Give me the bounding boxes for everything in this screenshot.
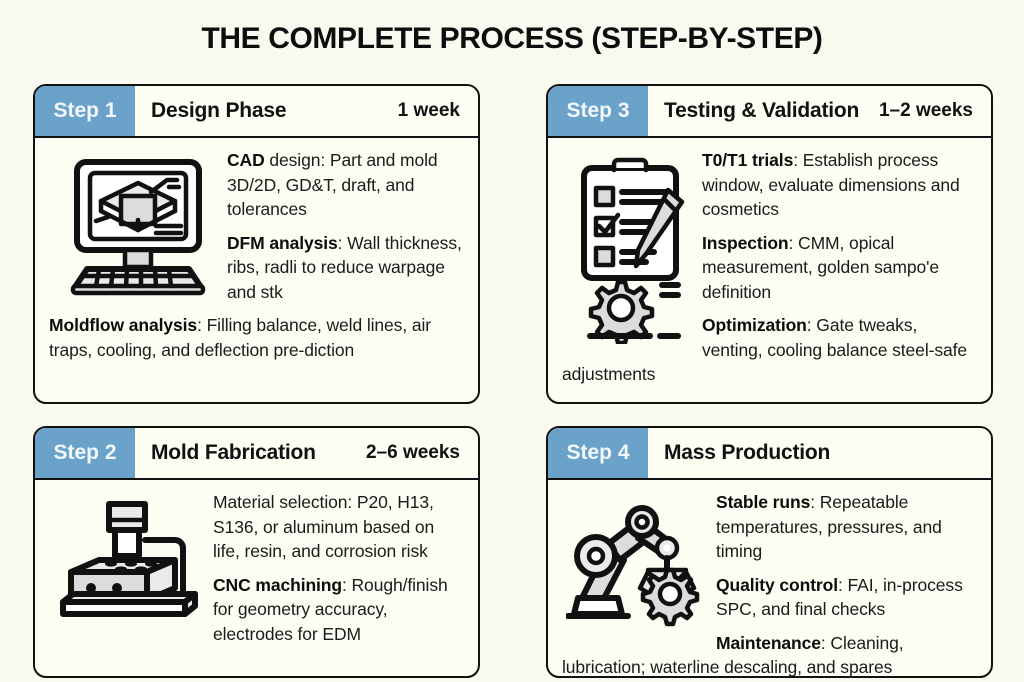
paragraph-lead: Quality control [716, 575, 838, 595]
paragraph-lead: CNC machining [213, 575, 342, 595]
paragraph-lead: Moldflow analysis [49, 315, 197, 335]
card-paragraph: Maintenance: Cleaning, lubrication; wate… [562, 631, 977, 679]
clipboard-checklist-gear-icon [574, 154, 690, 344]
card-duration: 1 week [398, 86, 478, 136]
card-body: Material selection: P20, H13, S136, or a… [35, 480, 478, 676]
step-card-testing-validation: Step 3 Testing & Validation 1–2 weeks [546, 84, 993, 404]
card-body: T0/T1 trials: Establish process window, … [548, 138, 991, 402]
step-card-mass-production: Step 4 Mass Production [546, 426, 993, 678]
card-header: Step 3 Testing & Validation 1–2 weeks [548, 86, 991, 138]
step-card-mold-fabrication: Step 2 Mold Fabrication 2–6 weeks [33, 426, 480, 678]
card-header: Step 2 Mold Fabrication 2–6 weeks [35, 428, 478, 480]
card-header: Step 4 Mass Production [548, 428, 991, 480]
card-heading: Mold Fabrication [135, 428, 366, 478]
paragraph-rest: Material selection: P20, H13, S136, or a… [213, 492, 434, 561]
card-duration [973, 428, 991, 478]
step-card-design-phase: Step 1 Design Phase 1 week [33, 84, 480, 404]
card-heading: Testing & Validation [648, 86, 879, 136]
desktop-cad-monitor-icon [63, 156, 213, 296]
paragraph-lead: Optimization [702, 315, 807, 335]
card-duration: 2–6 weeks [366, 428, 478, 478]
card-paragraph: Moldflow analysis: Filling balance, weld… [49, 313, 464, 362]
card-header: Step 1 Design Phase 1 week [35, 86, 478, 138]
page-title: THE COMPLETE PROCESS (STEP-BY-STEP) [0, 22, 1024, 56]
card-duration: 1–2 weeks [879, 86, 991, 136]
paragraph-lead: DFM analysis [227, 233, 338, 253]
robot-arm-gear-icon [566, 500, 706, 628]
step-badge: Step 4 [548, 428, 648, 478]
paragraph-lead: Inspection [702, 233, 789, 253]
paragraph-lead: Stable runs [716, 492, 810, 512]
card-heading: Mass Production [648, 428, 973, 478]
paragraph-lead: CAD [227, 150, 265, 170]
cnc-milling-machine-icon [53, 498, 203, 628]
step-badge: Step 3 [548, 86, 648, 136]
card-body: CAD design: Part and mold 3D/2D, GD&T, d… [35, 138, 478, 402]
infographic-page: THE COMPLETE PROCESS (STEP-BY-STEP) Step… [0, 0, 1024, 682]
card-body: Stable runs: Repeatable temperatures, pr… [548, 480, 991, 678]
step-badge: Step 2 [35, 428, 135, 478]
step-badge: Step 1 [35, 86, 135, 136]
paragraph-lead: T0/T1 trials [702, 150, 793, 170]
steps-grid: Step 1 Design Phase 1 week [33, 84, 993, 678]
card-heading: Design Phase [135, 86, 398, 136]
paragraph-lead: Maintenance [716, 633, 821, 653]
